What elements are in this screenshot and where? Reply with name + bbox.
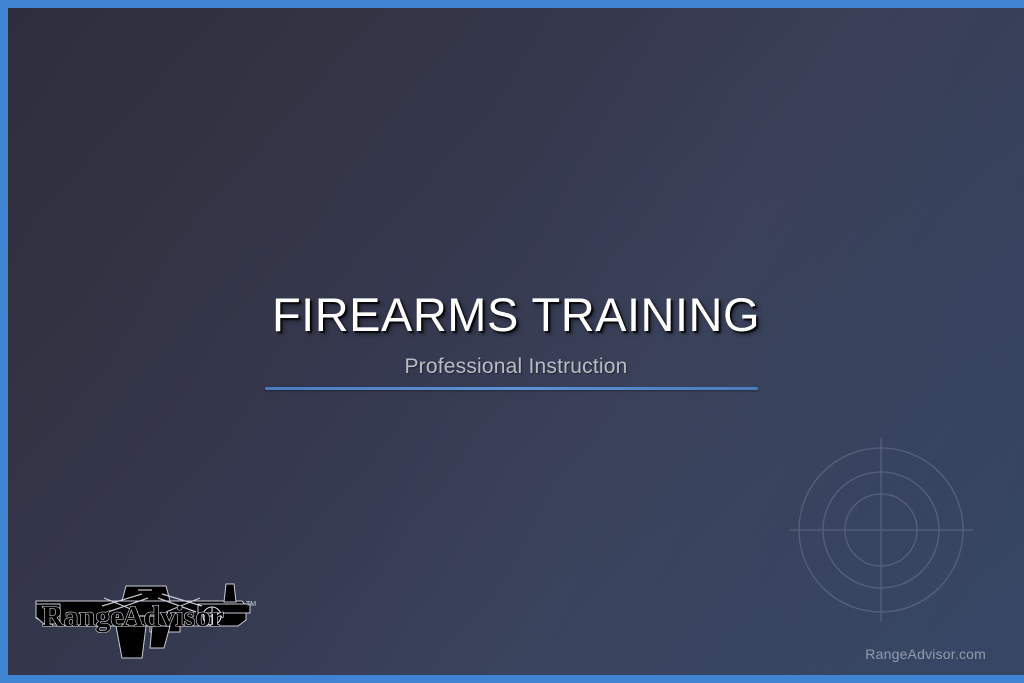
logo-trademark: TM: [246, 601, 256, 608]
accent-divider: [265, 387, 758, 390]
title-slide: FIREARMS TRAINING Professional Instructi…: [0, 0, 1024, 683]
page-subtitle: Professional Instruction: [8, 355, 1024, 379]
page-title: FIREARMS TRAINING: [8, 290, 1024, 339]
footer-watermark: RangeAdvisor.com: [865, 646, 986, 662]
logo-word-one: Range: [42, 600, 124, 633]
brand-logo: Range Advisor TM: [30, 568, 266, 660]
title-block: FIREARMS TRAINING Professional Instructi…: [8, 290, 1024, 379]
crosshair-target-icon: [789, 438, 974, 623]
slide-canvas: FIREARMS TRAINING Professional Instructi…: [8, 8, 1024, 675]
logo-word-two: Advisor: [122, 600, 224, 633]
